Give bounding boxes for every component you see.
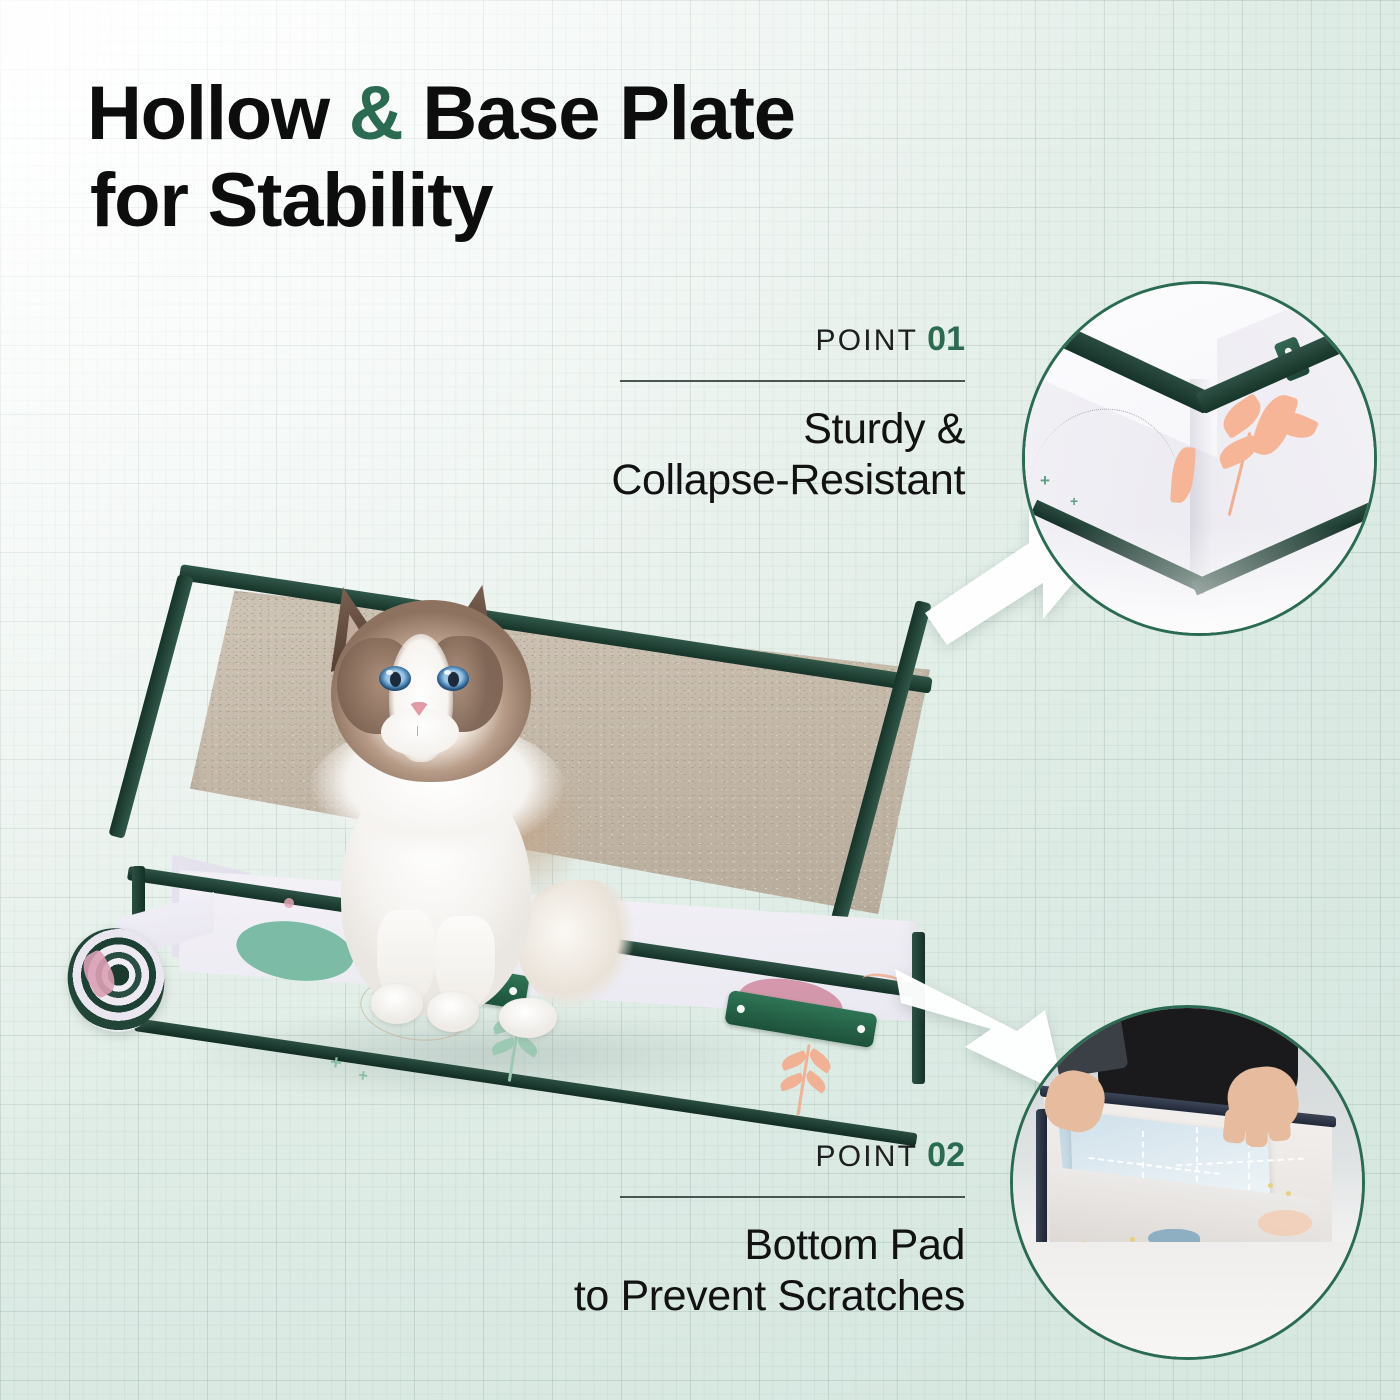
litter-box-illustration: + +	[40, 570, 960, 1100]
inset-01-cross-2: +	[1070, 493, 1078, 509]
inset-02-image	[1010, 1005, 1365, 1360]
point-02-divider	[620, 1196, 965, 1198]
point-01-kicker-label: POINT	[816, 324, 919, 357]
cat-paw-2	[427, 992, 479, 1032]
cat-mouth	[417, 726, 425, 736]
point-02-title: Bottom Pad to Prevent Scratches	[520, 1220, 965, 1321]
inset-02-print-dot-4	[1268, 1183, 1273, 1188]
inset-01-surface-gloss	[1022, 526, 1377, 636]
inset-photo-02	[1010, 1005, 1365, 1360]
point-02-title-line-1: Bottom Pad	[520, 1220, 965, 1271]
inset-02-person-sleeve	[1050, 1006, 1129, 1078]
inset-01-image: + +	[1022, 281, 1377, 636]
box-rim-left	[108, 574, 193, 839]
headline-line-1-part-a: Hollow	[87, 71, 349, 156]
headline-line-1: Hollow & Base Plate	[87, 78, 1027, 151]
cat-eye-right	[437, 666, 469, 691]
point-02-number: 02	[927, 1136, 965, 1174]
inset-02-print-dot-5	[1286, 1191, 1291, 1196]
inset-photo-01: + +	[1022, 281, 1377, 636]
cat-paw-3	[499, 998, 557, 1038]
print-cross-1: +	[328, 1051, 343, 1075]
cat-eye-left	[379, 666, 411, 691]
cat-paw-1	[371, 984, 423, 1024]
point-01-divider	[620, 380, 965, 382]
point-02-kicker: POINT02	[520, 1138, 965, 1172]
print-cross-2: +	[357, 1065, 370, 1086]
inset-02-hand-right-finger-3	[1267, 1108, 1291, 1141]
inset-02-box-rim-side	[1036, 1109, 1047, 1250]
point-01-title: Sturdy & Collapse-Resistant	[520, 404, 965, 505]
point-block-02: POINT02 Bottom Pad to Prevent Scratches	[520, 1138, 965, 1321]
headline-line-2-wrap: for Stability	[87, 165, 495, 238]
headline-line-1-part-b: Base Plate	[402, 71, 794, 156]
headline-line-2: for Stability	[90, 158, 492, 243]
point-01-title-line-2: Collapse-Resistant	[520, 455, 965, 506]
page-title: Hollow & Base Plate for Stability	[87, 78, 1027, 238]
cat-pupil-left	[390, 672, 401, 687]
cat-pupil-right	[448, 672, 459, 687]
inset-02-print-peach	[1258, 1210, 1312, 1236]
headline-ampersand: &	[349, 71, 403, 156]
point-01-number: 01	[927, 320, 965, 358]
point-01-title-line-1: Sturdy &	[520, 404, 965, 455]
point-block-01: POINT01 Sturdy & Collapse-Resistant	[520, 322, 965, 505]
inset-02-hand-right-finger-1	[1222, 1108, 1247, 1144]
inset-01-cross-1: +	[1040, 471, 1050, 491]
inset-02-hand-right-finger-2	[1245, 1111, 1268, 1148]
point-01-kicker: POINT01	[520, 322, 965, 356]
point-02-kicker-label: POINT	[816, 1140, 919, 1173]
point-02-title-line-2: to Prevent Scratches	[520, 1271, 965, 1322]
cat-illustration	[285, 580, 635, 1040]
inset-02-table-surface	[1010, 1242, 1365, 1360]
